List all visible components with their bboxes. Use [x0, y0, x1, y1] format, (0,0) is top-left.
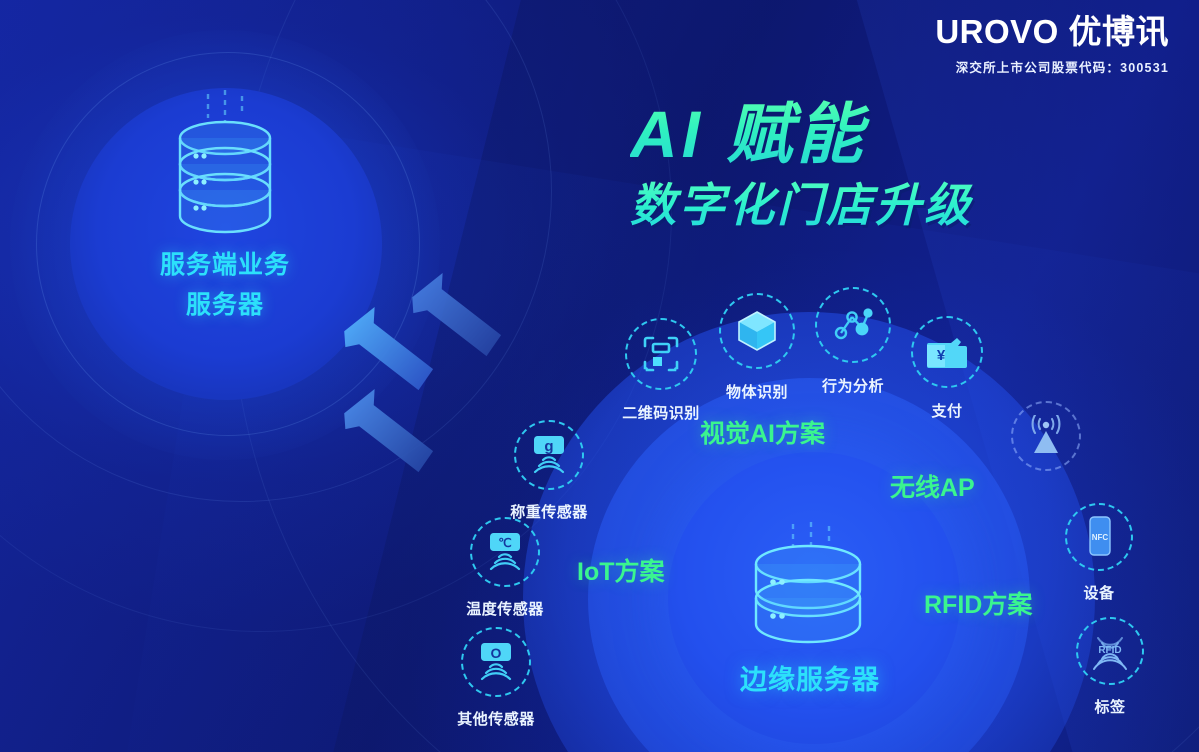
section-label-vision: 视觉AI方案 — [700, 414, 825, 450]
nfc-device-icon: NFC — [1065, 503, 1133, 571]
node-graph-icon — [815, 287, 891, 363]
node-label: 支付 — [931, 400, 962, 421]
node-label: 其他传感器 — [457, 708, 535, 729]
node-label: 标签 — [1094, 696, 1125, 717]
edge-server-label: 边缘服务器 — [640, 658, 980, 697]
node-label: 物体识别 — [726, 381, 788, 402]
edge-database-icon — [733, 522, 883, 652]
svg-text:℃: ℃ — [498, 536, 511, 550]
section-label-ap: 无线AP — [890, 468, 975, 504]
title-line-2: 数字化门店升级 — [630, 176, 973, 234]
node-label: 称重传感器 — [510, 501, 588, 522]
other-sensor-icon: O — [461, 627, 531, 697]
stock-code-note: 深交所上市公司股票代码：300531 — [935, 57, 1169, 76]
node-label: 行为分析 — [822, 375, 884, 396]
temperature-sensor-icon: ℃ — [470, 517, 540, 587]
brand-logo: UROVO 优博讯 深交所上市公司股票代码：300531 — [935, 12, 1169, 76]
svg-text:O: O — [491, 645, 502, 661]
node-label: 二维码识别 — [622, 402, 700, 423]
svg-text:g: g — [544, 438, 553, 455]
section-label-iot: IoT方案 — [577, 552, 665, 588]
wireless-antenna-icon — [1011, 401, 1081, 471]
rfid-tag-icon: RFID — [1076, 617, 1144, 685]
page-title: AI 赋能 数字化门店升级 — [630, 96, 973, 234]
svg-text:¥: ¥ — [937, 347, 946, 364]
section-label-rfid: RFID方案 — [924, 585, 1032, 621]
node-label: 设备 — [1083, 582, 1114, 603]
poster-canvas: UROVO 优博讯 深交所上市公司股票代码：300531 AI 赋能 数字化门店… — [0, 0, 1199, 752]
flow-arrow-upleft-2 — [404, 266, 514, 376]
logo-wordmark: UROVO 优博讯 — [935, 12, 1169, 52]
title-line-1: AI 赋能 — [630, 96, 973, 172]
weight-sensor-icon: g — [514, 420, 584, 490]
wallet-yen-icon: ¥ — [911, 316, 983, 388]
cube-icon — [719, 293, 795, 369]
server-label-line1: 服务端业务 — [60, 245, 390, 285]
svg-text:NFC: NFC — [1092, 533, 1109, 542]
node-label: 温度传感器 — [466, 598, 544, 619]
flow-arrow-upleft-3 — [336, 382, 446, 492]
qr-scan-icon — [625, 318, 697, 390]
database-stack-icon — [150, 90, 300, 250]
